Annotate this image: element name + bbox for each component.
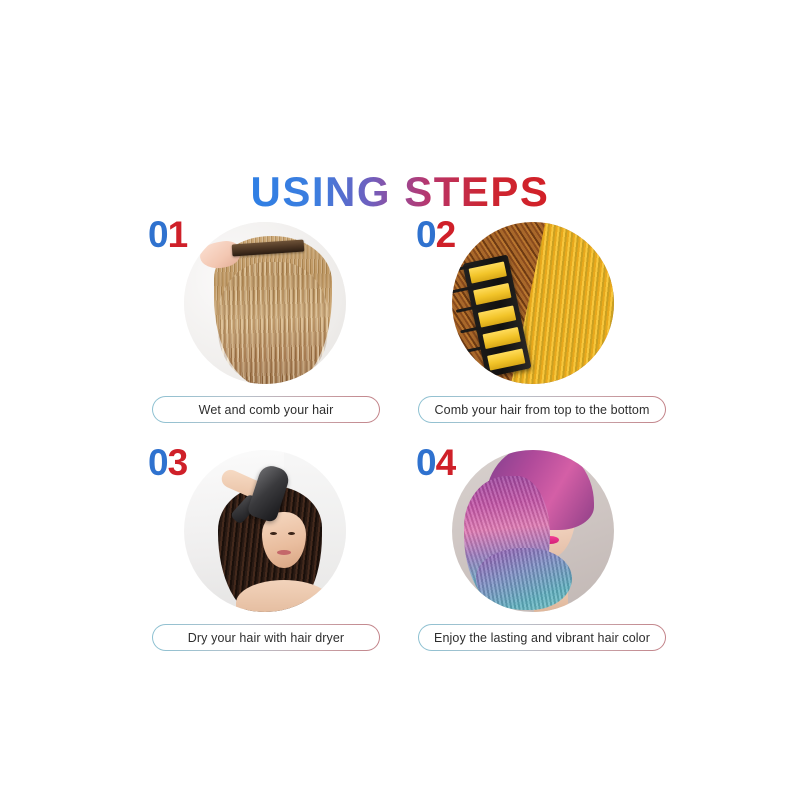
- step-caption-inner-04: Enjoy the lasting and vibrant hair color: [419, 625, 665, 650]
- infographic-page: USING STEPS 01 Wet a: [0, 0, 800, 800]
- step-number-03-digit-first: 0: [148, 442, 168, 483]
- step-card-02: 02 Comb your hair from top to the bottom: [400, 210, 672, 438]
- step-number-02: 02: [416, 216, 455, 253]
- step-card-03: 03: [132, 438, 404, 666]
- step-image-01: [184, 222, 346, 384]
- page-title: USING STEPS: [251, 170, 550, 214]
- steps-row-bottom: 03: [0, 438, 800, 666]
- step-card-04: 04: [400, 438, 672, 666]
- step-number-01-digit-first: 0: [148, 214, 168, 255]
- step-caption-pill-01: Wet and comb your hair: [152, 396, 380, 423]
- step-caption-text-03: Dry your hair with hair dryer: [188, 631, 344, 645]
- steps-row-top: 01 Wet and comb your hair: [0, 210, 800, 438]
- brown-hair-with-yellow-chalk-comb-photo: [452, 222, 614, 384]
- step-caption-pill-04: Enjoy the lasting and vibrant hair color: [418, 624, 666, 651]
- step-number-02-digit-second: 2: [436, 214, 456, 255]
- step-caption-inner-01: Wet and comb your hair: [153, 397, 379, 422]
- step-caption-text-01: Wet and comb your hair: [199, 403, 334, 417]
- wet-blonde-hair-being-combed-photo: [184, 222, 346, 384]
- step-caption-text-04: Enjoy the lasting and vibrant hair color: [434, 631, 650, 645]
- step-caption-pill-03: Dry your hair with hair dryer: [152, 624, 380, 651]
- step-number-03: 03: [148, 444, 187, 481]
- steps-grid: 01 Wet and comb your hair: [0, 210, 800, 666]
- step-image-04: [452, 450, 614, 612]
- step-number-04-digit-first: 0: [416, 442, 436, 483]
- model-with-purple-pink-teal-hair-photo: [452, 450, 614, 612]
- step-image-02: [452, 222, 614, 384]
- lips-shape: [277, 550, 291, 555]
- step-image-03: [184, 450, 346, 612]
- eye-left: [270, 532, 277, 535]
- step-card-01: 01 Wet and comb your hair: [132, 210, 404, 438]
- step-number-03-digit-second: 3: [168, 442, 188, 483]
- step-number-02-digit-first: 0: [416, 214, 436, 255]
- step-number-01: 01: [148, 216, 187, 253]
- step-number-01-digit-second: 1: [168, 214, 188, 255]
- step-caption-text-02: Comb your hair from top to the bottom: [435, 403, 650, 417]
- step-caption-inner-02: Comb your hair from top to the bottom: [419, 397, 665, 422]
- step-number-04-digit-second: 4: [436, 442, 456, 483]
- hair-wave-texture: [218, 262, 328, 384]
- eye-right: [288, 532, 295, 535]
- step-caption-pill-02: Comb your hair from top to the bottom: [418, 396, 666, 423]
- colored-hair-curl: [476, 548, 572, 610]
- woman-using-hair-dryer-photo: [184, 450, 346, 612]
- step-caption-inner-03: Dry your hair with hair dryer: [153, 625, 379, 650]
- step-number-04: 04: [416, 444, 455, 481]
